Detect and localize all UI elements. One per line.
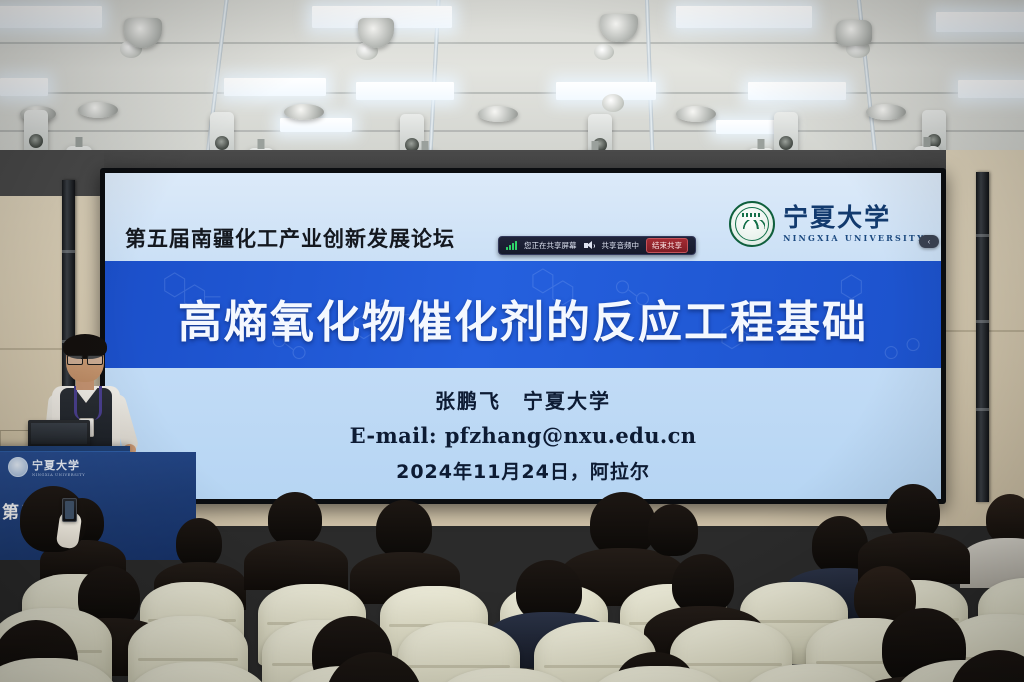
panel-light-icon bbox=[958, 80, 1024, 98]
audience-head bbox=[376, 500, 432, 558]
downlight-icon bbox=[866, 104, 906, 120]
cylinder-downlight-icon bbox=[836, 20, 872, 46]
forum-title: 第五届南疆化工产业创新发展论坛 bbox=[125, 223, 455, 253]
downlight-icon bbox=[478, 106, 518, 122]
university-name-cn: 宁夏大学 bbox=[783, 205, 925, 230]
smartphone[interactable] bbox=[62, 498, 77, 522]
screen-share-toolbar[interactable]: 您正在共享屏幕 共享音频中 结束共享 bbox=[498, 236, 696, 255]
signal-bars-icon bbox=[506, 241, 517, 250]
audience-head bbox=[268, 492, 322, 546]
sharing-status-label: 您正在共享屏幕 bbox=[524, 240, 577, 251]
panel-light-icon bbox=[676, 6, 812, 28]
university-name-en: NINGXIA UNIVERSITY bbox=[783, 233, 925, 243]
ceiling-tile bbox=[0, 42, 1024, 94]
projection-screen: 第五届南疆化工产业创新发展论坛 宁夏大学 NINGXIA UNIVERSITY … bbox=[105, 173, 941, 499]
panel-light-icon bbox=[748, 82, 846, 100]
panel-light-icon bbox=[224, 78, 326, 96]
presenter-email: E-mail: pfzhang@nxu.edu.cn bbox=[105, 423, 941, 448]
presenter-lanyard bbox=[74, 386, 102, 420]
speaker-icon bbox=[584, 241, 595, 250]
panel-light-icon bbox=[0, 78, 48, 96]
panel-light-icon bbox=[0, 6, 102, 28]
audio-sharing-label: 共享音频中 bbox=[602, 240, 640, 251]
university-emblem-icon bbox=[729, 201, 775, 247]
sprinkler-icon bbox=[602, 94, 624, 112]
sprinkler-icon bbox=[594, 44, 614, 60]
glasses-icon bbox=[67, 355, 103, 363]
downlight-icon bbox=[676, 106, 716, 122]
ceiling bbox=[0, 0, 1024, 172]
panel-light-icon bbox=[280, 118, 352, 132]
audience-head bbox=[986, 494, 1024, 544]
audience-shoulder bbox=[244, 540, 348, 590]
audience-head bbox=[590, 492, 656, 556]
panel-light-icon bbox=[356, 82, 454, 100]
audience-area bbox=[0, 470, 1024, 682]
chevron-left-icon[interactable]: ‹ bbox=[919, 235, 939, 248]
audience-head bbox=[672, 554, 734, 614]
university-logo: 宁夏大学 NINGXIA UNIVERSITY bbox=[729, 201, 925, 247]
screenshot-root: 第五届南疆化工产业创新发展论坛 宁夏大学 NINGXIA UNIVERSITY … bbox=[0, 0, 1024, 682]
downlight-icon bbox=[284, 104, 324, 120]
audience-head bbox=[176, 518, 222, 568]
projection-screen-bezel: 第五届南疆化工产业创新发展论坛 宁夏大学 NINGXIA UNIVERSITY … bbox=[100, 168, 946, 504]
audience-head bbox=[648, 504, 698, 556]
panel-light-icon bbox=[936, 12, 1024, 32]
end-share-button[interactable]: 结束共享 bbox=[646, 238, 688, 253]
downlight-icon bbox=[78, 102, 118, 118]
presentation-slide: 第五届南疆化工产业创新发展论坛 宁夏大学 NINGXIA UNIVERSITY … bbox=[105, 173, 941, 499]
slide-main-title: 高熵氧化物催化剂的反应工程基础 bbox=[105, 286, 941, 350]
lecture-hall-scene: 第五届南疆化工产业创新发展论坛 宁夏大学 NINGXIA UNIVERSITY … bbox=[0, 0, 1024, 682]
column-speaker-pole bbox=[976, 172, 989, 502]
presenter-name-affiliation: 张鹏飞 宁夏大学 bbox=[105, 385, 941, 414]
